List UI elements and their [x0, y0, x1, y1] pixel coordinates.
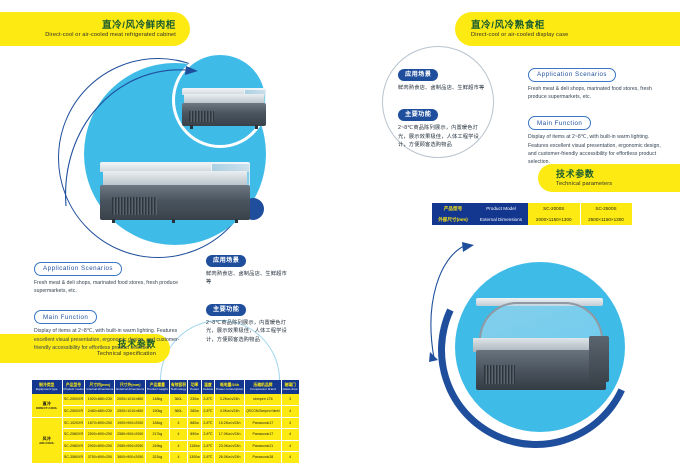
right-main-function-label-cn: 主要功能 — [398, 109, 438, 121]
spec-table-cell: 15.2Kw.h/24h — [215, 417, 245, 429]
right-application-scenarios-body-en: Fresh meat & deli shops, marinated food … — [528, 85, 668, 101]
spec-table-cell: 26.0Kw.h/24h — [215, 452, 245, 464]
spec-table-cell: 2-8℃ — [201, 406, 214, 418]
banner-deli-title-en: Direct-cool or air-cooled display case — [471, 31, 568, 39]
params-row-label-en: External Dimensions — [474, 214, 528, 225]
spec-table-cell: 4 — [169, 452, 188, 464]
spec-table-cell: 3800×900×2050 — [115, 452, 146, 464]
technical-specification-table: 制冷类型Equipment type产品型号Product model尺寸内(m… — [32, 380, 300, 464]
spec-table-cell: skmpen LT6 — [245, 394, 281, 406]
spec-table-cell: 2-8℃ — [201, 452, 214, 464]
banner-meat-title-en: Direct-cool or air-cooled meat refrigera… — [45, 31, 176, 39]
spec-table-cell: 249kg — [146, 440, 169, 452]
product-image-meat-cabinet-large — [100, 152, 250, 220]
spec-header-cell: 产品型号Product model — [62, 380, 85, 394]
spec-table-cell: SC-2980XR — [62, 440, 85, 452]
left-application-scenarios-label-cn: 应用场景 — [206, 255, 246, 267]
left-main-function-label-en: Main Function — [34, 310, 97, 324]
spec-table-cell: 150kg — [146, 406, 169, 418]
banner-meat-cabinet: 直冷/风冷鲜肉柜 Direct-cool or air-cooled meat … — [0, 12, 190, 46]
spec-table-cell: 3750×890×250 — [85, 452, 115, 464]
spec-table-cell: 1150w — [188, 440, 202, 452]
spec-table-row: SC-2580XR2500×890×2502580×900×2050217kg4… — [32, 429, 299, 441]
spec-table-cell: Panasonic17 — [245, 417, 281, 429]
spec-table-cell: 230w — [188, 394, 202, 406]
left-text-block-english: Application Scenarios Fresh meat & deli … — [34, 257, 184, 352]
right-application-scenarios-label-cn: 应用场景 — [398, 69, 438, 81]
params-row: 产品型号Product ModelSC-2000SSC-2500S — [432, 203, 632, 214]
params-cell: SC-2500S — [580, 203, 632, 214]
banner-techparams-title-en: Technical parameters — [556, 180, 612, 188]
spec-table-cell: 4 — [281, 417, 299, 429]
spec-table-row: SC-3580XR3750×890×2503800×900×2050321kg4… — [32, 452, 299, 464]
right-application-scenarios-body-cn: 鲜肉熟食店、卤制品店、生鲜超市等 — [398, 84, 486, 92]
spec-table-cell: 184kg — [146, 417, 169, 429]
right-application-scenarios-label-en: Application Scenarios — [528, 68, 616, 82]
spec-table-cell: 3.2Kw.h/24h — [215, 394, 245, 406]
spec-table-cell: 2980×900×2050 — [115, 440, 146, 452]
spec-table-cell: 3 — [281, 394, 299, 406]
spec-equipment-type-cell: 直冷DIRECT-COOL — [32, 394, 62, 417]
spec-table-cell: 2500×890×250 — [85, 429, 115, 441]
banner-deli-case: 直冷/风冷熟食柜 Direct-cool or air-cooled displ… — [455, 12, 680, 46]
spec-table-cell: 4 — [281, 452, 299, 464]
left-application-scenarios-body-cn: 鲜肉熟食店、卤制品店、生鲜超市等 — [206, 270, 292, 287]
spec-table-cell: Panasonic21 — [245, 440, 281, 452]
spec-table-cell: 4 — [169, 417, 188, 429]
spec-table-cell: 4 — [169, 440, 188, 452]
spec-table-cell: 2-8℃ — [201, 429, 214, 441]
left-main-function-label-cn: 主要功能 — [206, 304, 246, 316]
spec-table-cell: SC-1020XR — [62, 417, 85, 429]
spec-table-row: SC-2500XR2480×880×2302500×1010×860150kg3… — [32, 406, 299, 418]
spec-header-cell: 压缩机品牌Compressor brand — [245, 380, 281, 394]
spec-table-cell: 2900×890×250 — [85, 440, 115, 452]
right-main-function-body-cn: 2~8℃商品陈列展示，内置暖色灯光，展示效果极佳，人体工程学设计，方便顾客选购物… — [398, 124, 486, 149]
spec-table-cell: 890w — [188, 429, 202, 441]
spec-table-cell: 360L — [169, 394, 188, 406]
banner-techparams-title-cn: 技术参数 — [556, 169, 594, 180]
spec-header-cell: 制冷类型Equipment type — [32, 380, 62, 394]
params-row-label-cn: 产品型号 — [432, 203, 474, 214]
spec-table-cell: 2500×1010×860 — [115, 406, 146, 418]
right-main-function-body-en: Display of items at 2~8℃, with built-in … — [528, 133, 668, 166]
spec-table-cell: 2-8℃ — [201, 394, 214, 406]
spec-table-cell: SC-2000XR — [62, 394, 85, 406]
spec-table-cell: 2000×1010×860 — [115, 394, 146, 406]
spec-table-cell: 1870×890×250 — [85, 417, 115, 429]
spec-table-cell: 4 — [281, 429, 299, 441]
spec-table-cell: SC-2500XR — [62, 406, 85, 418]
params-cell: 2500×1150×1300 — [580, 214, 632, 225]
banner-deli-title-cn: 直冷/风冷熟食柜 — [471, 20, 545, 31]
spec-table-cell: 23.0Kw.h/24h — [215, 440, 245, 452]
right-text-block-english: Application Scenarios Fresh meat & deli … — [528, 63, 668, 166]
spec-table-cell: SC-2580XR — [62, 429, 85, 441]
spec-table-cell: 2480×880×230 — [85, 406, 115, 418]
left-main-function-body-cn: 2~8℃商品陈列展示，内置暖色灯光，展示效果极佳，人体工程学设计，方便顾客选购物… — [206, 319, 292, 344]
technical-parameters-table: 产品型号Product ModelSC-2000SSC-2500S外部尺寸(mm… — [432, 203, 633, 225]
spec-table-cell: 280w — [188, 406, 202, 418]
spec-table-cell: 217kg — [146, 429, 169, 441]
spec-table-cell: 360L — [169, 406, 188, 418]
spec-table-cell: 2-8℃ — [201, 440, 214, 452]
params-row-label-en: Product Model — [474, 203, 528, 214]
spec-header-cell: 产品重量Product weight — [146, 380, 169, 394]
spec-table-cell: 4 — [281, 406, 299, 418]
params-cell: 2000×1150×1300 — [528, 214, 580, 225]
left-application-scenarios-body-en: Fresh meat & deli shops, marinated food … — [34, 279, 184, 295]
spec-header-cell: 尺寸内(mm)Internal dimensions — [85, 380, 115, 394]
spec-table-cell: 321kg — [146, 452, 169, 464]
spec-header-cell: 温度Celsius — [201, 380, 214, 394]
params-row-label-cn: 外部尺寸(mm) — [432, 214, 474, 225]
left-text-block-chinese: 应用场景 鲜肉熟食店、卤制品店、生鲜超市等 主要功能 2~8℃商品陈列展示，内置… — [206, 249, 292, 344]
spec-table-cell: 2-8℃ — [201, 417, 214, 429]
spec-equipment-type-cell: 风冷AIR-COOL — [32, 417, 62, 463]
spec-table-cell: 1900×900×2050 — [115, 417, 146, 429]
spec-header-cell: 有效容积Technology — [169, 380, 188, 394]
spec-table-cell: 4.0Kw.h/24h — [215, 406, 245, 418]
banner-technical-parameters: 技术参数 Technical parameters — [538, 164, 680, 192]
spec-table-row: 直冷DIRECT-COOLSC-2000XR1920×880×2302000×1… — [32, 394, 299, 406]
spec-header-cell: 耗电量/24hPower consumption — [215, 380, 245, 394]
product-image-meat-cabinet-small — [182, 82, 266, 126]
product-image-deli-display-case — [470, 296, 612, 392]
spec-table-cell: 4 — [281, 440, 299, 452]
right-main-function-label-en: Main Function — [528, 116, 591, 130]
banner-meat-title-cn: 直冷/风冷鲜肉柜 — [102, 20, 176, 31]
spec-header-cell: 功率Power — [188, 380, 202, 394]
spec-table-cell: 2580×900×2050 — [115, 429, 146, 441]
spec-table-cell: 880w — [188, 417, 202, 429]
spec-table-cell: 1300w — [188, 452, 202, 464]
spec-header-cell: 玻璃门Glass door — [281, 380, 299, 394]
left-main-function-body-en: Display of items at 2~8℃, with built-in … — [34, 327, 184, 352]
brochure-page: 直冷/风冷鲜肉柜 Direct-cool or air-cooled meat … — [0, 0, 680, 464]
params-cell: SC-2000S — [528, 203, 580, 214]
params-row: 外部尺寸(mm)External Dimensions2000×1150×130… — [432, 214, 632, 225]
spec-table-cell: QRCON/Skmpen Nimbl — [245, 406, 281, 418]
spec-table-cell: 148kg — [146, 394, 169, 406]
spec-table-cell: 4 — [169, 429, 188, 441]
spec-table-cell: SC-3580XR — [62, 452, 85, 464]
spec-table-row: 风冷AIR-COOLSC-1020XR1870×890×2501900×900×… — [32, 417, 299, 429]
spec-table-cell: 17.0Kw.h/24h — [215, 429, 245, 441]
spec-table-cell: 1920×880×230 — [85, 394, 115, 406]
left-application-scenarios-label-en: Application Scenarios — [34, 262, 122, 276]
spec-table-cell: Panasonic17 — [245, 429, 281, 441]
spec-header-cell: 尺寸外(mm)External dimensions — [115, 380, 146, 394]
spec-table-row: SC-2980XR2900×890×2502980×900×2050249kg4… — [32, 440, 299, 452]
right-text-block-chinese: 应用场景 鲜肉熟食店、卤制品店、生鲜超市等 主要功能 2~8℃商品陈列展示，内置… — [398, 63, 486, 150]
spec-table-cell: Panasonic28 — [245, 452, 281, 464]
